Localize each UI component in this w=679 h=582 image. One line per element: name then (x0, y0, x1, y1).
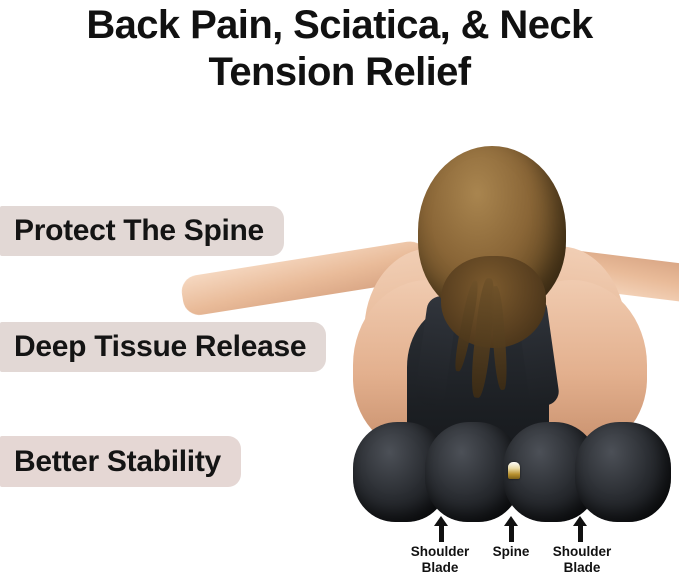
arrow-up-icon (504, 516, 518, 542)
infographic-canvas: Back Pain, Sciatica, & Neck Tension Reli… (0, 0, 679, 582)
product-logo-badge (508, 462, 520, 479)
title-line-1: Back Pain, Sciatica, & Neck (0, 2, 679, 49)
benefit-label: Protect The Spine (14, 214, 264, 248)
benefit-pill-protect-the-spine: Protect The Spine (0, 206, 284, 256)
benefit-pill-deep-tissue-release: Deep Tissue Release (0, 322, 326, 372)
title-line-2: Tension Relief (0, 49, 679, 96)
benefit-label: Deep Tissue Release (14, 330, 306, 364)
roller-lobe (575, 422, 671, 522)
foam-roller (353, 422, 671, 522)
benefit-pill-better-stability: Better Stability (0, 436, 241, 487)
page-title: Back Pain, Sciatica, & Neck Tension Reli… (0, 2, 679, 96)
benefit-label: Better Stability (14, 445, 221, 479)
arrow-up-icon (434, 516, 448, 542)
annotation-shoulder-blade-right: Shoulder Blade (534, 544, 630, 576)
arrow-up-icon (573, 516, 587, 542)
